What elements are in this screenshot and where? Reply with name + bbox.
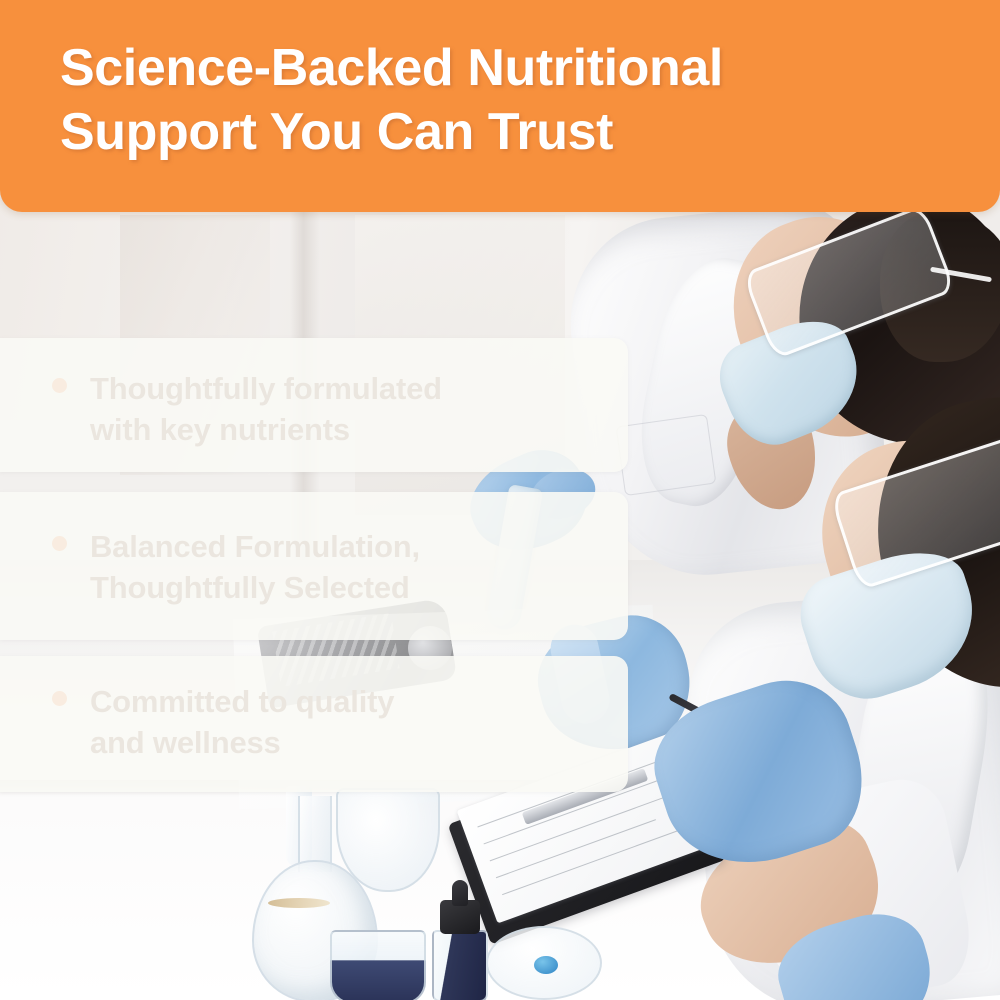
lab-coat-pocket-a [616,414,717,496]
bullet-panel-2 [0,492,628,640]
flask-gold-ring [268,898,330,908]
beaker-with-blue-liquid [330,930,426,1000]
dropper-bottle-bulb [452,880,468,906]
bullet-panel-1 [0,338,628,472]
page-title: Science-Backed Nutritional Support You C… [60,36,960,165]
dropper-bottle [432,930,488,1000]
bullet-panel-3 [0,656,628,792]
promo-banner: Science-Backed Nutritional Support You C… [0,0,1000,1000]
petri-dish-blue-droplet [534,956,558,974]
header-banner: Science-Backed Nutritional Support You C… [0,0,1000,212]
